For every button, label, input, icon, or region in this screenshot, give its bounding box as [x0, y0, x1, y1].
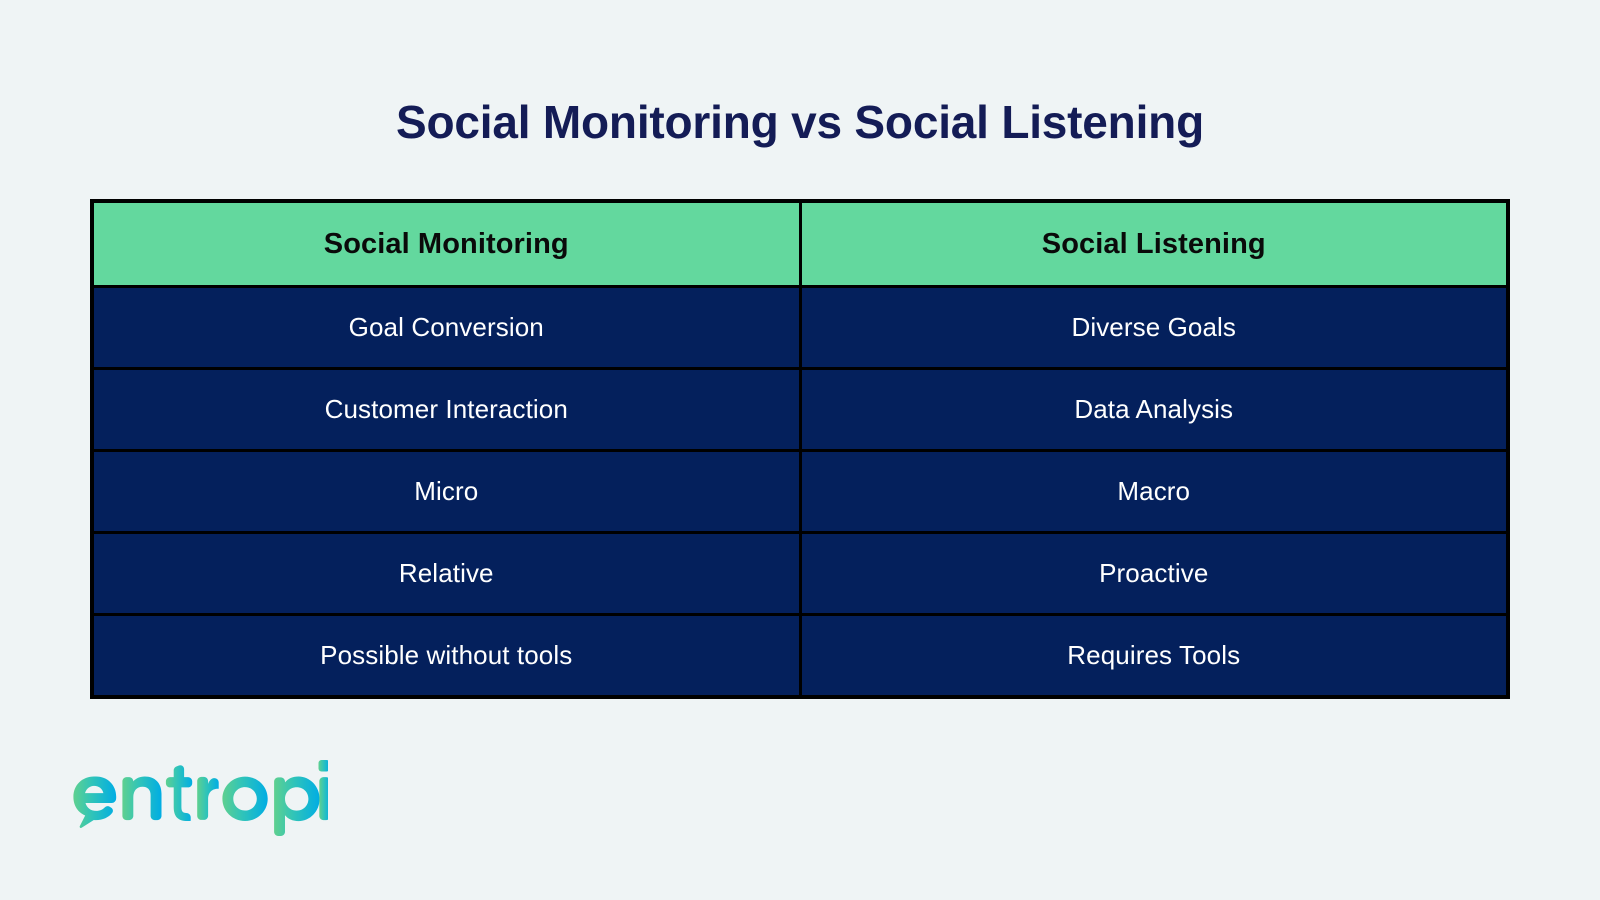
cell-monitoring-relative: Relative [92, 533, 800, 615]
column-header-social-monitoring: Social Monitoring [92, 201, 800, 287]
table-row: Customer Interaction Data Analysis [92, 369, 1508, 451]
cell-listening-proactive: Proactive [800, 533, 1508, 615]
table-header-row: Social Monitoring Social Listening [92, 201, 1508, 287]
table-row: Micro Macro [92, 451, 1508, 533]
cell-monitoring-customer-interaction: Customer Interaction [92, 369, 800, 451]
cell-monitoring-goal-conversion: Goal Conversion [92, 287, 800, 369]
entropik-logo [66, 752, 328, 836]
slide-canvas: Social Monitoring vs Social Listening So… [0, 0, 1600, 900]
cell-monitoring-possible-without-tools: Possible without tools [92, 615, 800, 698]
table-row: Relative Proactive [92, 533, 1508, 615]
table-row: Goal Conversion Diverse Goals [92, 287, 1508, 369]
cell-listening-requires-tools: Requires Tools [800, 615, 1508, 698]
cell-monitoring-micro: Micro [92, 451, 800, 533]
table-row: Possible without tools Requires Tools [92, 615, 1508, 698]
entropik-wordmark-icon [66, 752, 328, 836]
cell-listening-data-analysis: Data Analysis [800, 369, 1508, 451]
cell-listening-diverse-goals: Diverse Goals [800, 287, 1508, 369]
cell-listening-macro: Macro [800, 451, 1508, 533]
column-header-social-listening: Social Listening [800, 201, 1508, 287]
page-title: Social Monitoring vs Social Listening [0, 95, 1600, 149]
comparison-table: Social Monitoring Social Listening Goal … [90, 199, 1510, 699]
